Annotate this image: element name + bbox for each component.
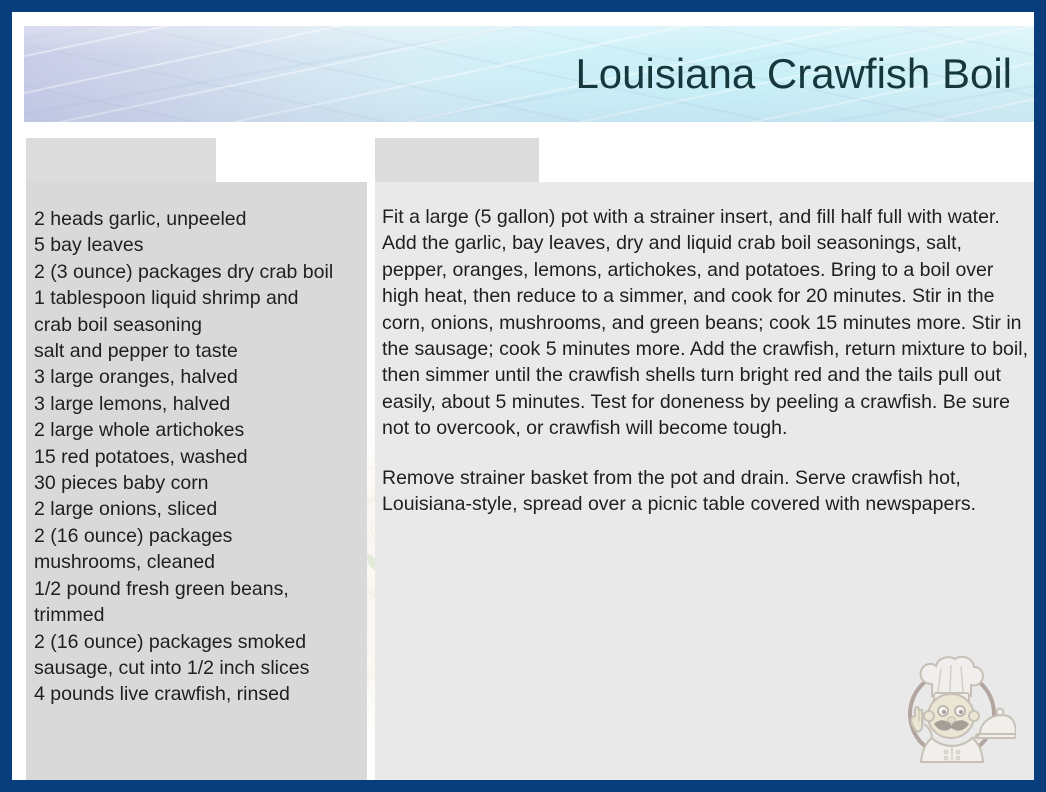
list-item: 4 pounds live crawfish, rinsed <box>34 681 370 707</box>
directions-body: Fit a large (5 gallon) pot with a strain… <box>382 204 1028 540</box>
list-item: 2 (16 ounce) packages <box>34 523 370 549</box>
list-item: 3 large lemons, halved <box>34 391 370 417</box>
directions-paragraph: Remove strainer basket from the pot and … <box>382 465 1028 518</box>
recipe-card: Louisiana Crawfish Boil <box>0 0 1046 792</box>
list-item: 2 large onions, sliced <box>34 496 370 522</box>
list-item: 1 tablespoon liquid shrimp and <box>34 285 370 311</box>
ingredients-tab <box>26 138 216 182</box>
list-item: 2 heads garlic, unpeeled <box>34 206 370 232</box>
list-item: 30 pieces baby corn <box>34 470 370 496</box>
list-item: 2 (3 ounce) packages dry crab boil <box>34 259 370 285</box>
list-item: 5 bay leaves <box>34 232 370 258</box>
ingredients-list: 2 heads garlic, unpeeled 5 bay leaves 2 … <box>34 206 370 708</box>
list-item: 2 (16 ounce) packages smoked <box>34 629 370 655</box>
list-item: 3 large oranges, halved <box>34 364 370 390</box>
title-banner: Louisiana Crawfish Boil <box>24 26 1034 122</box>
list-item: mushrooms, cleaned <box>34 549 370 575</box>
list-item: salt and pepper to taste <box>34 338 370 364</box>
directions-paragraph: Fit a large (5 gallon) pot with a strain… <box>382 204 1028 442</box>
list-item: sausage, cut into 1/2 inch slices <box>34 655 370 681</box>
list-item: trimmed <box>34 602 370 628</box>
list-item: crab boil seasoning <box>34 312 370 338</box>
list-item: 2 large whole artichokes <box>34 417 370 443</box>
list-item: 1/2 pound fresh green beans, <box>34 576 370 602</box>
directions-tab <box>375 138 539 182</box>
recipe-title: Louisiana Crawfish Boil <box>575 51 1012 97</box>
list-item: 15 red potatoes, washed <box>34 444 370 470</box>
